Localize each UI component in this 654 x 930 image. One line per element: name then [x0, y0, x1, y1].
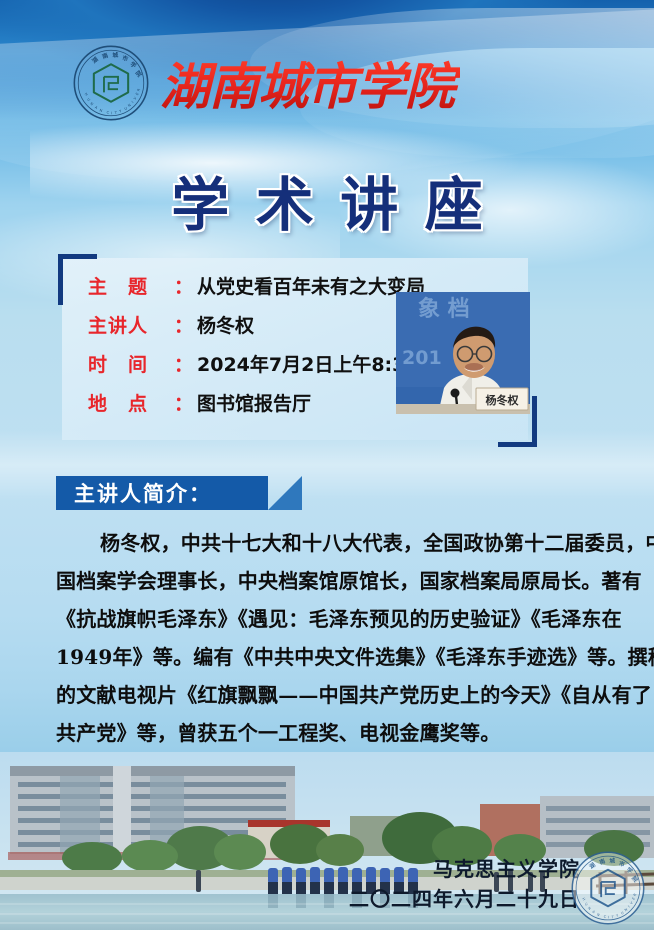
svg-text:R: R — [136, 88, 141, 92]
speaker-bio-banner: 主讲人简介： — [56, 476, 268, 510]
university-name-calligraphy: 湖南城市学院 — [160, 42, 460, 126]
svg-text:U: U — [86, 97, 91, 102]
info-colon-location: ： — [174, 389, 193, 416]
svg-text:N: N — [99, 108, 103, 113]
university-seal-icon: 湖 南 城 市 学 院 H U N A N C I T Y U N I V — [72, 44, 150, 122]
svg-text:H: H — [84, 92, 89, 97]
bio-line-6: 共产党》等，曾获五个一工程奖、电视金鹰奖等。 — [56, 714, 602, 752]
svg-text:C: C — [106, 110, 110, 114]
svg-text:I: I — [111, 111, 112, 115]
info-label-location: 地 点 — [88, 389, 174, 416]
info-value-location: 图书馆报告厅 — [197, 389, 311, 416]
bio-line-4: 1949年》等。编有《中共中央文件选集》《毛泽东手迹选》等。撰稿 — [56, 638, 602, 676]
poster-header: 湖 南 城 市 学 院 H U N A N C I T Y U N I V — [0, 36, 654, 128]
info-label-speaker: 主讲人 — [88, 311, 174, 338]
info-colon-topic: ： — [174, 272, 193, 299]
info-label-topic: 主 题 — [88, 272, 174, 299]
info-value-topic: 从党史看百年未有之大变局 — [197, 272, 425, 299]
svg-text:T: T — [114, 111, 118, 115]
poster-title: 学 术 讲 座 — [0, 158, 654, 242]
info-colon-speaker: ： — [174, 311, 193, 338]
svg-text:学: 学 — [129, 60, 138, 70]
signature-date: 二〇二四年六月二十九日 — [330, 884, 580, 914]
title-char-1: 学 — [171, 158, 229, 242]
bio-line-2: 国档案学会理事长，中央档案馆原馆长，国家档案局原局长。著有 — [56, 562, 602, 600]
svg-text:N: N — [127, 103, 132, 108]
svg-text:Y: Y — [119, 109, 123, 114]
svg-text:A: A — [94, 105, 99, 110]
title-char-4: 座 — [425, 158, 483, 242]
speaker-nameplate: 杨冬权 — [476, 388, 528, 410]
svg-text:V: V — [133, 96, 138, 101]
title-char-3: 讲 — [340, 158, 398, 242]
photo-backdrop-text: 象 档 — [418, 296, 470, 322]
svg-text:南: 南 — [101, 51, 110, 61]
university-name-text: 湖南城市学院 — [160, 57, 460, 116]
title-char-2: 术 — [256, 158, 314, 242]
poster-signature: 马克思主义学院 二〇二四年六月二十九日 — [330, 854, 580, 914]
svg-text:U: U — [124, 106, 128, 111]
info-colon-time: ： — [174, 350, 193, 377]
photo-backdrop-year: 201 — [402, 347, 442, 369]
svg-text:N: N — [89, 102, 94, 107]
lecture-poster: 湖 南 城 市 学 院 H U N A N C I T Y U N I V — [0, 0, 654, 930]
svg-text:院: 院 — [134, 69, 144, 79]
bio-line-5: 的文献电视片《红旗飘飘——中国共产党历史上的今天》《自从有了 — [56, 676, 602, 714]
bio-line-3: 《抗战旗帜毛泽东》《遇见：毛泽东预见的历史验证》《毛泽东在 — [56, 600, 602, 638]
nameplate-text: 杨冬权 — [486, 393, 520, 407]
svg-text:城: 城 — [112, 51, 119, 59]
info-label-time: 时 间 — [88, 350, 174, 377]
bio-line-1: 杨冬权，中共十七大和十八大代表，全国政协第十二届委员，中 — [56, 524, 602, 562]
watermark-seal-icon: 湖 南 城 市 学 院 H U N A N C I T Y U N I V E … — [570, 850, 646, 926]
signature-organizer: 马克思主义学院 — [330, 854, 580, 884]
info-value-speaker: 杨冬权 — [197, 311, 254, 338]
speaker-photo: 象 档 201 杨冬权 — [396, 292, 530, 414]
speaker-biography: 杨冬权，中共十七大和十八大代表，全国政协第十二届委员，中 国档案学会理事长，中央… — [56, 524, 602, 752]
info-value-time: 2024年7月2日上午8:30 — [197, 350, 419, 377]
speaker-bio-banner-label: 主讲人简介： — [74, 478, 212, 508]
svg-text:I: I — [131, 100, 135, 104]
svg-text:I: I — [608, 915, 609, 919]
banner-tail-decoration — [268, 476, 302, 510]
